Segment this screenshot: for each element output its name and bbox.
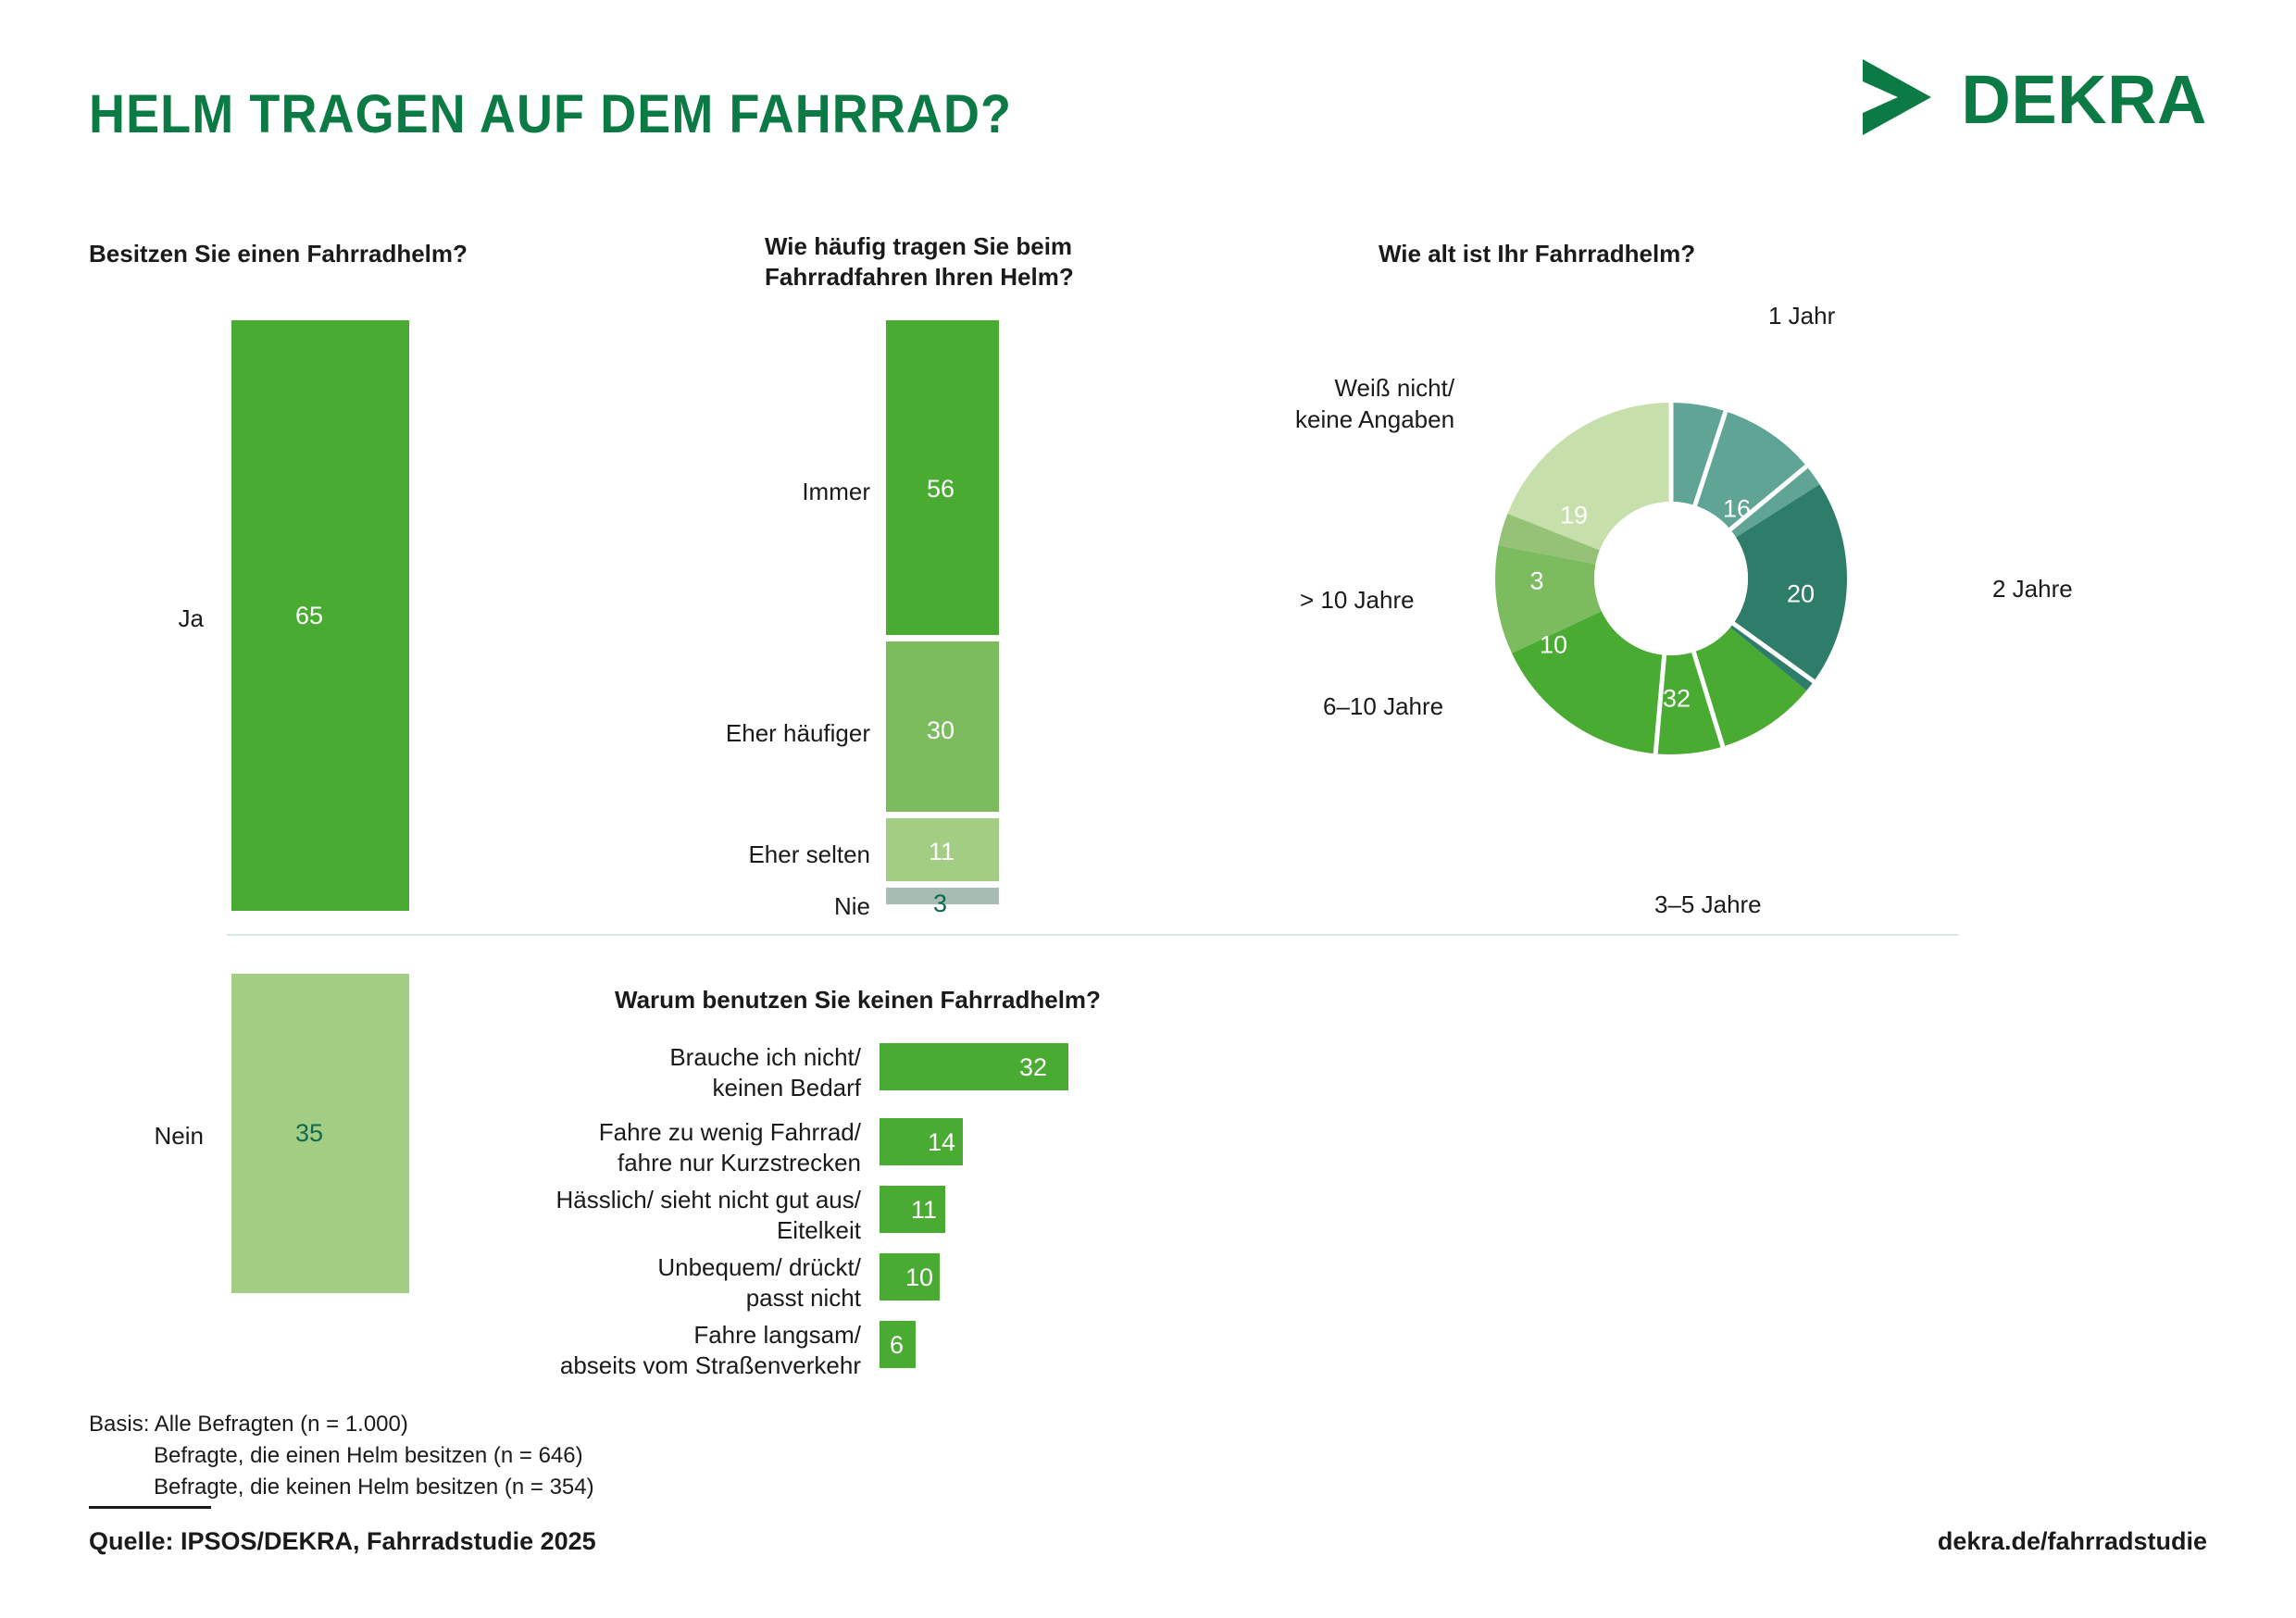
reason-label-line2: abseits vom Straßenverkehr bbox=[463, 1350, 861, 1381]
dekra-logo: DEKRA bbox=[1857, 56, 2207, 143]
footer-basis-line1: Basis: Alle Befragten (n = 1.000) bbox=[89, 1412, 408, 1437]
bar-label-frequency-nie: Nie bbox=[741, 891, 870, 922]
bar-label-reason-fahre-langsam: Fahre langsam/ abseits vom Straßenverkeh… bbox=[463, 1320, 861, 1380]
reason-label-line1: Brauche ich nicht/ bbox=[463, 1042, 861, 1073]
donut-value-weiss-nicht: 19 bbox=[1560, 504, 1588, 529]
chart-title-line2: Fahrradfahren Ihren Helm? bbox=[765, 262, 1163, 292]
page-title: HELM TRAGEN AUF DEM FAHRRAD? bbox=[89, 83, 1012, 145]
dekra-triangle-arrow-icon bbox=[1857, 56, 1937, 143]
footer-divider bbox=[89, 1506, 211, 1509]
bar-label-frequency-immer: Immer bbox=[704, 477, 870, 507]
bar-value-frequency-eher-haeufiger: 30 bbox=[927, 718, 955, 743]
chart-title-line1: Wie häufig tragen Sie beim bbox=[765, 231, 1163, 262]
reason-label-line2: keinen Bedarf bbox=[463, 1073, 861, 1103]
footer-basis: Basis: Alle Befragten (n = 1.000) Befrag… bbox=[89, 1409, 594, 1503]
donut-value-1-jahr: 16 bbox=[1723, 497, 1751, 522]
bar-value-ownership-nein: 35 bbox=[295, 1121, 323, 1146]
donut-label-6-10-jahre: 6–10 Jahre bbox=[1323, 691, 1443, 723]
reason-label-line1: Fahre zu wenig Fahrrad/ bbox=[463, 1117, 861, 1148]
chart-title-helmet-age: Wie alt ist Ihr Fahrradhelm? bbox=[1379, 239, 1695, 269]
chart-title-helmet-ownership: Besitzen Sie einen Fahrradhelm? bbox=[89, 239, 468, 269]
donut-value-ueber-10-jahre: 3 bbox=[1529, 569, 1543, 594]
dekra-wordmark: DEKRA bbox=[1961, 66, 2207, 134]
bar-value-reason-fahre-zu-wenig: 14 bbox=[928, 1130, 955, 1155]
donut-label-ueber-10-jahre: > 10 Jahre bbox=[1300, 585, 1415, 616]
bar-value-frequency-eher-selten: 11 bbox=[929, 840, 955, 865]
bar-label-ownership-ja: Ja bbox=[56, 604, 204, 634]
bar-value-reason-unbequem: 10 bbox=[905, 1265, 933, 1290]
reason-label-line2: fahre nur Kurzstrecken bbox=[463, 1148, 861, 1178]
bar-label-reason-haesslich: Hässlich/ sieht nicht gut aus/ Eitelkeit bbox=[463, 1185, 861, 1245]
footer-basis-line3: Befragte, die keinen Helm besitzen (n = … bbox=[89, 1472, 594, 1503]
bar-value-ownership-ja: 65 bbox=[295, 604, 323, 629]
donut-label-2-jahre: 2 Jahre bbox=[1992, 574, 2073, 605]
reason-label-line1: Unbequem/ drückt/ bbox=[463, 1252, 861, 1283]
bar-label-frequency-eher-selten: Eher selten bbox=[685, 840, 870, 870]
bar-value-reason-haesslich: 11 bbox=[911, 1198, 937, 1223]
donut-chart-helmet-age: 16 20 32 10 3 19 bbox=[1495, 403, 1847, 754]
bar-label-reason-fahre-zu-wenig: Fahre zu wenig Fahrrad/ fahre nur Kurzst… bbox=[463, 1117, 861, 1177]
reason-label-line2: passt nicht bbox=[463, 1283, 861, 1313]
bar-value-frequency-nie: 3 bbox=[933, 891, 947, 916]
footer-basis-line2: Befragte, die einen Helm besitzen (n = 6… bbox=[89, 1440, 594, 1472]
donut-value-3-5-jahre: 32 bbox=[1663, 687, 1691, 712]
donut-label-weiss-nicht: Weiß nicht/ keine Angaben bbox=[1295, 373, 1454, 436]
bar-label-frequency-eher-haeufiger: Eher häufiger bbox=[665, 718, 870, 749]
reason-label-line2: Eitelkeit bbox=[463, 1215, 861, 1246]
donut-label-3-5-jahre: 3–5 Jahre bbox=[1654, 890, 1762, 921]
bar-label-ownership-nein: Nein bbox=[56, 1121, 204, 1151]
footer-source: Quelle: IPSOS/DEKRA, Fahrradstudie 2025 bbox=[89, 1527, 596, 1556]
bar-value-reason-fahre-langsam: 6 bbox=[890, 1333, 904, 1358]
donut-label-1-jahr: 1 Jahr bbox=[1768, 301, 1835, 332]
donut-label-weiss-nicht-line2: keine Angaben bbox=[1295, 404, 1454, 436]
chart-title-no-helmet-reasons: Warum benutzen Sie keinen Fahrradhelm? bbox=[615, 985, 1101, 1015]
bar-label-reason-unbequem: Unbequem/ drückt/ passt nicht bbox=[463, 1252, 861, 1313]
donut-value-6-10-jahre: 10 bbox=[1540, 633, 1567, 658]
bar-value-reason-brauche-ich-nicht: 32 bbox=[1019, 1055, 1047, 1080]
bar-label-reason-brauche-ich-nicht: Brauche ich nicht/ keinen Bedarf bbox=[463, 1042, 861, 1102]
donut-value-2-jahre: 20 bbox=[1787, 582, 1815, 607]
chart-title-helmet-frequency: Wie häufig tragen Sie beim Fahrradfahren… bbox=[765, 231, 1163, 293]
footer-url[interactable]: dekra.de/fahrradstudie bbox=[1938, 1527, 2207, 1556]
donut-label-weiss-nicht-line1: Weiß nicht/ bbox=[1295, 373, 1454, 404]
reason-label-line1: Fahre langsam/ bbox=[463, 1320, 861, 1350]
bar-value-frequency-immer: 56 bbox=[927, 477, 955, 502]
section-divider bbox=[227, 934, 1958, 936]
reason-label-line1: Hässlich/ sieht nicht gut aus/ bbox=[463, 1185, 861, 1215]
